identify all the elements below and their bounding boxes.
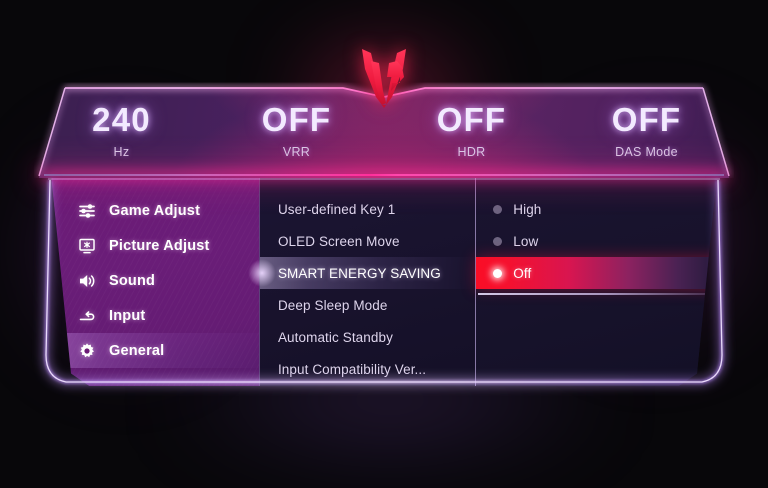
sidebar-item-label: Game Adjust [109,203,200,219]
menu-item-smart-energy-saving[interactable]: SMART ENERGY SAVING [260,257,475,289]
lg-ultragear-logo [338,47,430,109]
option-label: Off [513,266,531,281]
menu-item-input-compatibility-version[interactable]: Input Compatibility Ver... [260,353,475,385]
radio-indicator [493,205,502,214]
option-off[interactable]: Off [476,257,722,289]
menu-item-label: Deep Sleep Mode [278,298,388,313]
sidebar-item-game-adjust[interactable]: Game Adjust [46,193,259,228]
gear-icon [78,342,96,360]
menu-item-user-defined-key-1[interactable]: User-defined Key 1 [260,193,475,225]
menu-item-label: Input Compatibility Ver... [278,362,426,377]
sliders-icon [78,202,96,220]
plug-icon [78,307,96,325]
sidebar: Game Adjust Picture Adjust [46,178,259,386]
radio-indicator-selected [493,269,502,278]
option-low[interactable]: Low [476,225,722,257]
menu-panel: Game Adjust Picture Adjust [46,178,722,386]
sidebar-item-label: General [109,343,164,359]
menu-item-oled-screen-move[interactable]: OLED Screen Move [260,225,475,257]
option-label: Low [513,234,538,249]
sidebar-item-label: Picture Adjust [109,238,210,254]
sidebar-item-picture-adjust[interactable]: Picture Adjust [46,228,259,263]
option-selection-underline [478,293,712,295]
option-high[interactable]: High [476,193,722,225]
options-list: High Low Off [475,178,722,386]
radio-indicator [493,237,502,246]
sidebar-item-input[interactable]: Input [46,298,259,333]
display-icon [78,237,96,255]
menu-item-label: User-defined Key 1 [278,202,395,217]
menu-item-automatic-standby[interactable]: Automatic Standby [260,321,475,353]
sidebar-item-general[interactable]: General [46,333,259,368]
menu-item-label: SMART ENERGY SAVING [278,266,441,281]
sidebar-item-label: Input [109,308,145,324]
menu-item-label: Automatic Standby [278,330,393,345]
menu-item-deep-sleep-mode[interactable]: Deep Sleep Mode [260,289,475,321]
osd-screen: 240 Hz OFF VRR OFF HDR OFF DAS Mode [0,0,768,488]
sidebar-item-label: Sound [109,273,155,289]
option-label: High [513,202,541,217]
menu-item-label: OLED Screen Move [278,234,400,249]
sidebar-item-sound[interactable]: Sound [46,263,259,298]
speaker-icon [78,272,96,290]
settings-list: User-defined Key 1 OLED Screen Move SMAR… [259,178,475,386]
